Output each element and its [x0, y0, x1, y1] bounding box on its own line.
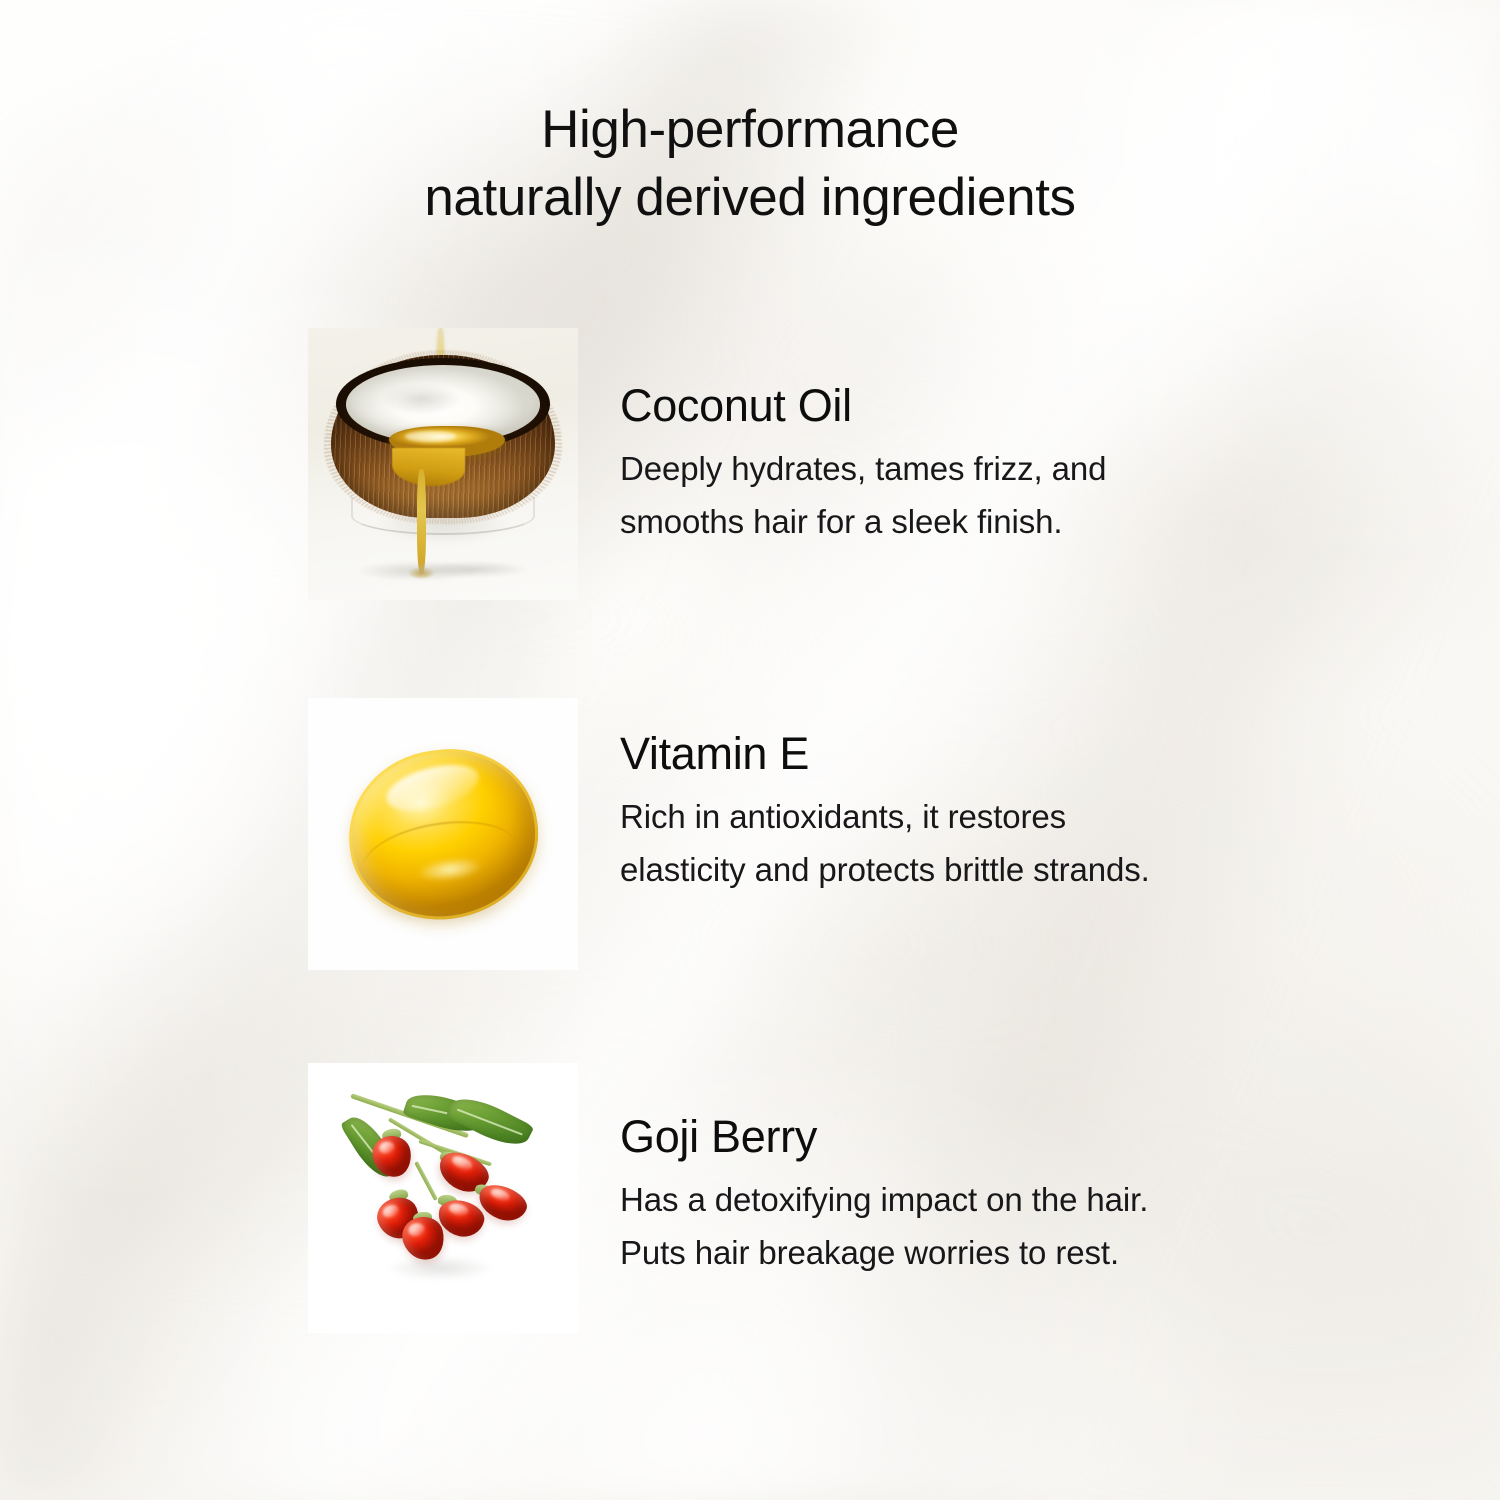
- coconut-oil-copy: Coconut Oil Deeply hydrates, tames frizz…: [620, 380, 1320, 548]
- glass-bowl: [351, 497, 535, 535]
- coconut-oil-description: Deeply hydrates, tames frizz, and smooth…: [620, 442, 1320, 548]
- vitamin-e-title: Vitamin E: [620, 728, 1320, 780]
- vitamin-e-image: [308, 698, 578, 970]
- goji-berry-copy: Goji Berry Has a detoxifying impact on t…: [620, 1111, 1320, 1279]
- coconut-oil-description-line-1: Deeply hydrates, tames frizz, and: [620, 442, 1320, 495]
- goji-berry-title: Goji Berry: [620, 1111, 1320, 1163]
- coconut-oil-description-line-2: smooths hair for a sleek finish.: [620, 495, 1320, 548]
- coconut-oil-title: Coconut Oil: [620, 380, 1320, 432]
- vitamin-e-description-line-2: elasticity and protects brittle strands.: [620, 843, 1320, 896]
- vitamin-e-description-line-1: Rich in antioxidants, it restores: [620, 790, 1320, 843]
- goji-berry-image: [308, 1063, 578, 1333]
- vitamin-e-capsule-photo: [308, 698, 578, 970]
- vitamin-e-copy: Vitamin E Rich in antioxidants, it resto…: [620, 728, 1320, 896]
- coconut-oil-photo: [308, 328, 578, 600]
- goji-berry-description-line-2: Puts hair breakage worries to rest.: [620, 1226, 1320, 1279]
- coconut-oil-image: [308, 328, 578, 600]
- ingredients-infographic: High-performance naturally derived ingre…: [0, 0, 1500, 1500]
- goji-stem-d: [414, 1161, 438, 1201]
- vitamin-e-description: Rich in antioxidants, it restores elasti…: [620, 790, 1320, 896]
- goji-berry-description: Has a detoxifying impact on the hair. Pu…: [620, 1173, 1320, 1279]
- ingredient-list: Coconut Oil Deeply hydrates, tames frizz…: [0, 0, 1500, 1500]
- goji-berry-photo: [308, 1063, 578, 1333]
- goji-leaf-right: [446, 1089, 535, 1155]
- goji-group-shadow: [367, 1252, 513, 1284]
- water-ripple: [324, 556, 562, 586]
- goji-berry-description-line-1: Has a detoxifying impact on the hair.: [620, 1173, 1320, 1226]
